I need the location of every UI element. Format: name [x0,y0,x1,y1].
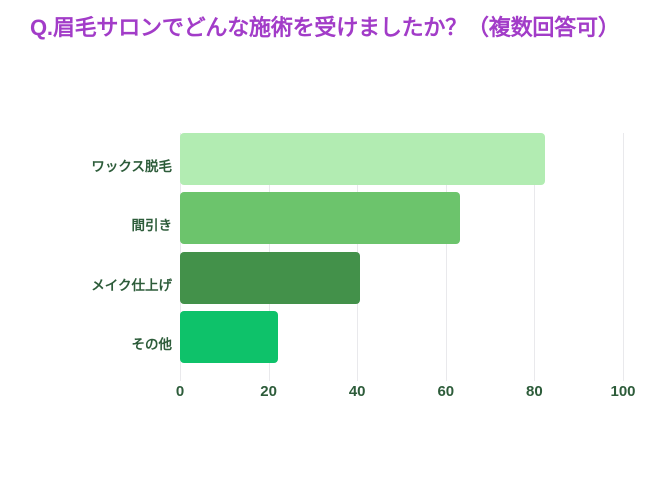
y-axis-category-labels: ワックス脱毛 間引き メイク仕上げ その他 [8,133,172,381]
bar-other [180,311,278,363]
bar-makeup-finish [180,252,360,304]
x-axis-tick-2: 40 [349,383,366,400]
bar-waxing [180,133,545,185]
bar-chart: ワックス脱毛 間引き メイク仕上げ その他 0 20 40 60 80 100 [0,118,650,388]
bar-thinning [180,192,460,244]
x-axis-tick-0: 0 [176,383,184,400]
chart-title: Q.眉毛サロンでどんな施術を受けましたか？（複数回答可） [30,14,630,43]
gridline-100 [623,133,624,381]
plot-area [180,133,623,381]
y-axis-label-2: メイク仕上げ [12,274,172,294]
y-axis-label-0: ワックス脱毛 [12,155,172,175]
x-axis-tick-labels: 0 20 40 60 80 100 [180,381,623,407]
y-axis-label-1: 間引き [12,214,172,234]
x-axis-tick-4: 80 [526,383,543,400]
x-axis-tick-1: 20 [260,383,277,400]
y-axis-label-3: その他 [12,333,172,353]
x-axis-tick-3: 60 [437,383,454,400]
x-axis-tick-5: 100 [610,383,635,400]
